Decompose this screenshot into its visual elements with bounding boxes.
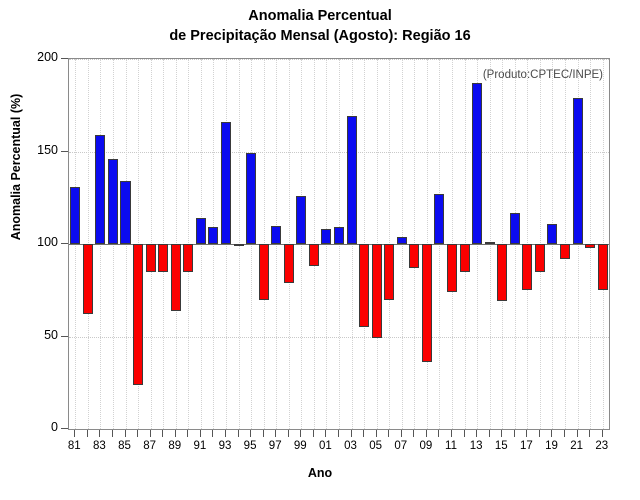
bar-82: [83, 244, 93, 314]
bar-85: [120, 181, 130, 244]
x-tick-mark: [300, 430, 301, 437]
bar-81: [70, 187, 80, 244]
bar-96: [259, 244, 269, 300]
x-tick-mark: [313, 430, 314, 437]
chart-title-line-1: Anomalia Percentual: [0, 6, 640, 26]
bar-10: [434, 194, 444, 244]
x-tick-label: 87: [138, 440, 162, 452]
x-tick-label: 23: [590, 440, 614, 452]
x-tick-label: 01: [313, 440, 337, 452]
x-tick-mark: [99, 430, 100, 437]
y-tick-label: 0: [16, 420, 58, 434]
bar-09: [422, 244, 432, 362]
bar-02: [334, 227, 344, 244]
bar-06: [384, 244, 394, 300]
x-tick-mark: [187, 430, 188, 437]
x-tick-label: 09: [414, 440, 438, 452]
chart-title: Anomalia Percentual de Precipitação Mens…: [0, 6, 640, 46]
x-tick-mark: [200, 430, 201, 437]
x-tick-mark: [338, 430, 339, 437]
y-tick-label: 50: [16, 328, 58, 342]
x-tick-label: 95: [238, 440, 262, 452]
x-tick-mark: [577, 430, 578, 437]
y-tick-mark: [61, 151, 68, 152]
x-tick-mark: [351, 430, 352, 437]
x-tick-mark: [363, 430, 364, 437]
x-tick-label: 97: [263, 440, 287, 452]
bar-83: [95, 135, 105, 244]
plot-area: (Produto:CPTEC/INPE): [68, 58, 610, 430]
bar-07: [397, 237, 407, 244]
x-tick-mark: [401, 430, 402, 437]
bar-98: [284, 244, 294, 283]
x-tick-label: 81: [62, 440, 86, 452]
x-tick-mark: [551, 430, 552, 437]
x-tick-label: 13: [464, 440, 488, 452]
x-tick-mark: [212, 430, 213, 437]
chart-title-line-2: de Precipitação Mensal (Agosto): Região …: [0, 26, 640, 46]
x-tick-mark: [526, 430, 527, 437]
x-tick-label: 89: [163, 440, 187, 452]
bar-94: [234, 244, 244, 246]
bar-18: [535, 244, 545, 272]
x-tick-mark: [238, 430, 239, 437]
bar-01: [321, 229, 331, 244]
x-tick-mark: [413, 430, 414, 437]
x-tick-label: 17: [514, 440, 538, 452]
bar-89: [171, 244, 181, 311]
x-tick-mark: [74, 430, 75, 437]
bar-05: [372, 244, 382, 338]
y-tick-label: 150: [16, 143, 58, 157]
bar-16: [510, 213, 520, 244]
x-tick-label: 93: [213, 440, 237, 452]
x-tick-mark: [225, 430, 226, 437]
x-tick-mark: [112, 430, 113, 437]
bar-84: [108, 159, 118, 244]
x-tick-mark: [275, 430, 276, 437]
x-tick-mark: [175, 430, 176, 437]
bar-04: [359, 244, 369, 327]
x-tick-label: 99: [288, 440, 312, 452]
x-tick-mark: [464, 430, 465, 437]
y-tick-mark: [61, 336, 68, 337]
bar-13: [472, 83, 482, 244]
x-tick-label: 03: [339, 440, 363, 452]
bar-92: [208, 227, 218, 244]
x-tick-mark: [602, 430, 603, 437]
x-tick-mark: [388, 430, 389, 437]
x-tick-label: 19: [539, 440, 563, 452]
bar-08: [409, 244, 419, 268]
bar-21: [573, 98, 583, 244]
x-tick-mark: [376, 430, 377, 437]
x-tick-mark: [539, 430, 540, 437]
bar-17: [522, 244, 532, 290]
x-tick-mark: [514, 430, 515, 437]
bar-23: [598, 244, 608, 290]
bar-88: [158, 244, 168, 272]
bar-20: [560, 244, 570, 259]
x-tick-mark: [250, 430, 251, 437]
x-tick-label: 15: [489, 440, 513, 452]
bar-99: [296, 196, 306, 244]
y-tick-label: 200: [16, 50, 58, 64]
bar-15: [497, 244, 507, 301]
source-annotation: (Produto:CPTEC/INPE): [483, 69, 603, 81]
x-tick-mark: [451, 430, 452, 437]
bar-93: [221, 122, 231, 244]
bar-03: [347, 116, 357, 244]
x-tick-mark: [426, 430, 427, 437]
x-tick-mark: [137, 430, 138, 437]
bar-14: [485, 242, 495, 244]
x-tick-label: 83: [87, 440, 111, 452]
x-tick-label: 21: [565, 440, 589, 452]
x-tick-mark: [501, 430, 502, 437]
x-tick-mark: [263, 430, 264, 437]
x-tick-mark: [87, 430, 88, 437]
x-tick-mark: [325, 430, 326, 437]
x-tick-mark: [125, 430, 126, 437]
x-tick-mark: [162, 430, 163, 437]
x-tick-label: 91: [188, 440, 212, 452]
y-tick-mark: [61, 58, 68, 59]
x-tick-mark: [438, 430, 439, 437]
x-tick-mark: [476, 430, 477, 437]
y-tick-mark: [61, 243, 68, 244]
chart-root: Anomalia Percentual de Precipitação Mens…: [0, 0, 640, 500]
x-tick-mark: [489, 430, 490, 437]
x-tick-mark: [288, 430, 289, 437]
bar-97: [271, 226, 281, 245]
bar-90: [183, 244, 193, 272]
x-tick-label: 07: [389, 440, 413, 452]
bar-86: [133, 244, 143, 385]
bar-00: [309, 244, 319, 266]
x-tick-label: 85: [113, 440, 137, 452]
x-axis-label: Ano: [0, 466, 640, 480]
y-tick-mark: [61, 428, 68, 429]
x-tick-label: 05: [364, 440, 388, 452]
bar-91: [196, 218, 206, 244]
bar-95: [246, 153, 256, 244]
y-tick-label: 100: [16, 235, 58, 249]
x-tick-mark: [564, 430, 565, 437]
bar-12: [460, 244, 470, 272]
bar-87: [146, 244, 156, 272]
bar-22: [585, 244, 595, 248]
x-tick-mark: [150, 430, 151, 437]
x-tick-label: 11: [439, 440, 463, 452]
bar-11: [447, 244, 457, 292]
bar-19: [547, 224, 557, 244]
x-tick-mark: [589, 430, 590, 437]
